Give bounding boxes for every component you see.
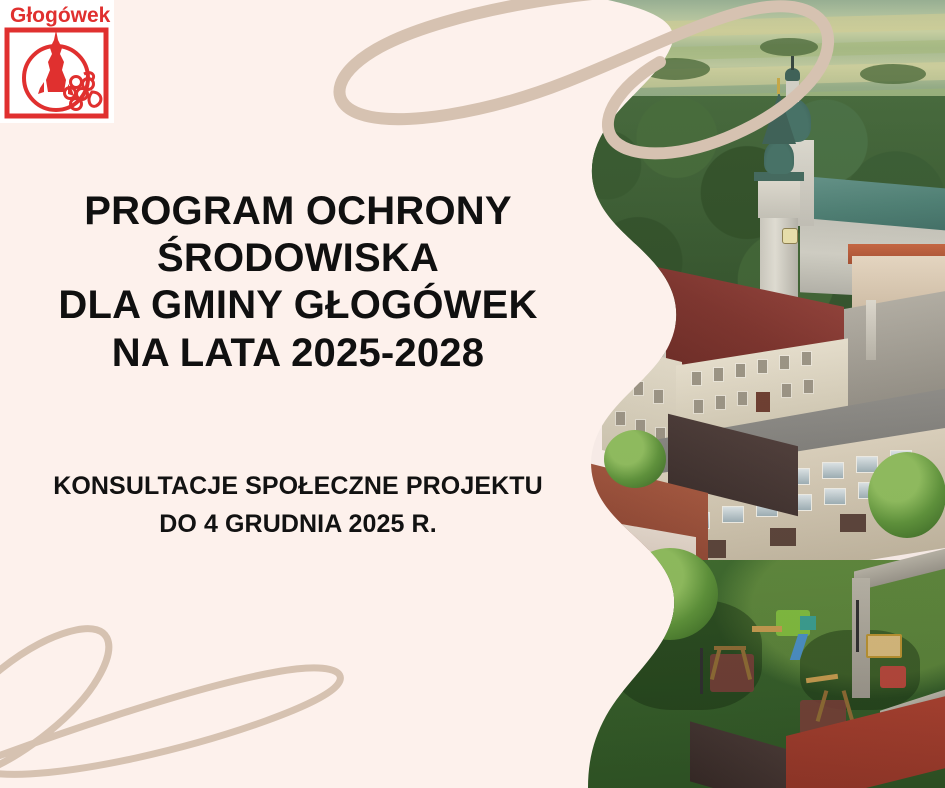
playground-sandbox <box>866 634 902 658</box>
town-hall-window <box>616 412 625 425</box>
subtitle-line-2: DO 4 GRUDNIA 2025 R. <box>0 506 596 544</box>
bell-tower-spire <box>762 92 796 144</box>
park-lamp-post <box>856 600 859 652</box>
bell-tower-belfry <box>758 178 800 218</box>
tower-clock-face <box>782 228 798 244</box>
town-hall-window <box>614 374 623 387</box>
title-line-4: NA LATA 2025-2028 <box>0 330 596 377</box>
bell-tower-finial <box>777 78 780 94</box>
park-tree <box>622 548 718 640</box>
town-hall-window <box>694 400 703 413</box>
town-hall-window <box>634 382 643 395</box>
market-column-monument <box>866 300 876 360</box>
apartment-window <box>722 506 744 523</box>
subtitle-line-1: KONSULTACJE SPOŁECZNE PROJEKTU <box>0 468 596 506</box>
park-tree <box>604 430 666 488</box>
swing-crossbar <box>714 646 746 650</box>
town-hall-window <box>692 372 701 385</box>
playground-monkey-bars <box>752 626 782 632</box>
title-line-1: PROGRAM OCHRONY <box>0 188 596 235</box>
church-cross <box>791 56 794 70</box>
town-hall-window <box>758 360 767 373</box>
town-hall-window <box>736 364 745 377</box>
townhouse-roof <box>594 306 648 322</box>
poster-subtitle: KONSULTACJE SPOŁECZNE PROJEKTU DO 4 GRUD… <box>0 468 596 543</box>
town-hall-window <box>654 390 663 403</box>
town-hall-window <box>716 396 725 409</box>
poster-title: PROGRAM OCHRONY ŚRODOWISKA DLA GMINY GŁO… <box>0 188 596 377</box>
town-hall-window <box>782 384 791 397</box>
hedgerow <box>760 38 818 56</box>
hedgerow <box>860 64 926 84</box>
apartment-window <box>824 488 846 505</box>
playground-canopy <box>800 616 816 630</box>
playground-play-house <box>880 666 906 688</box>
bell-tower-onion-dome <box>764 140 794 174</box>
town-hall-window <box>738 392 747 405</box>
apartment-entrance <box>840 514 866 532</box>
title-line-2: ŚRODOWISKA <box>0 235 596 282</box>
poster-canvas: Głogówek PROGRAM OCHRONY ŚRODOWISKA <box>0 0 945 788</box>
town-hall-window <box>714 368 723 381</box>
townhouse-wall <box>598 318 646 362</box>
title-line-3: DLA GMINY GŁOGÓWEK <box>0 282 596 329</box>
town-hall-window <box>780 356 789 369</box>
town-hall-portal <box>756 392 770 412</box>
park-tree <box>868 452 945 538</box>
text-column: PROGRAM OCHRONY ŚRODOWISKA DLA GMINY GŁO… <box>0 0 596 788</box>
apartment-entrance <box>770 528 796 546</box>
apartment-window <box>822 462 844 479</box>
park-lamp-post <box>700 648 703 694</box>
town-hall-window <box>802 352 811 365</box>
town-hall-window <box>804 380 813 393</box>
hedgerow <box>640 58 710 80</box>
